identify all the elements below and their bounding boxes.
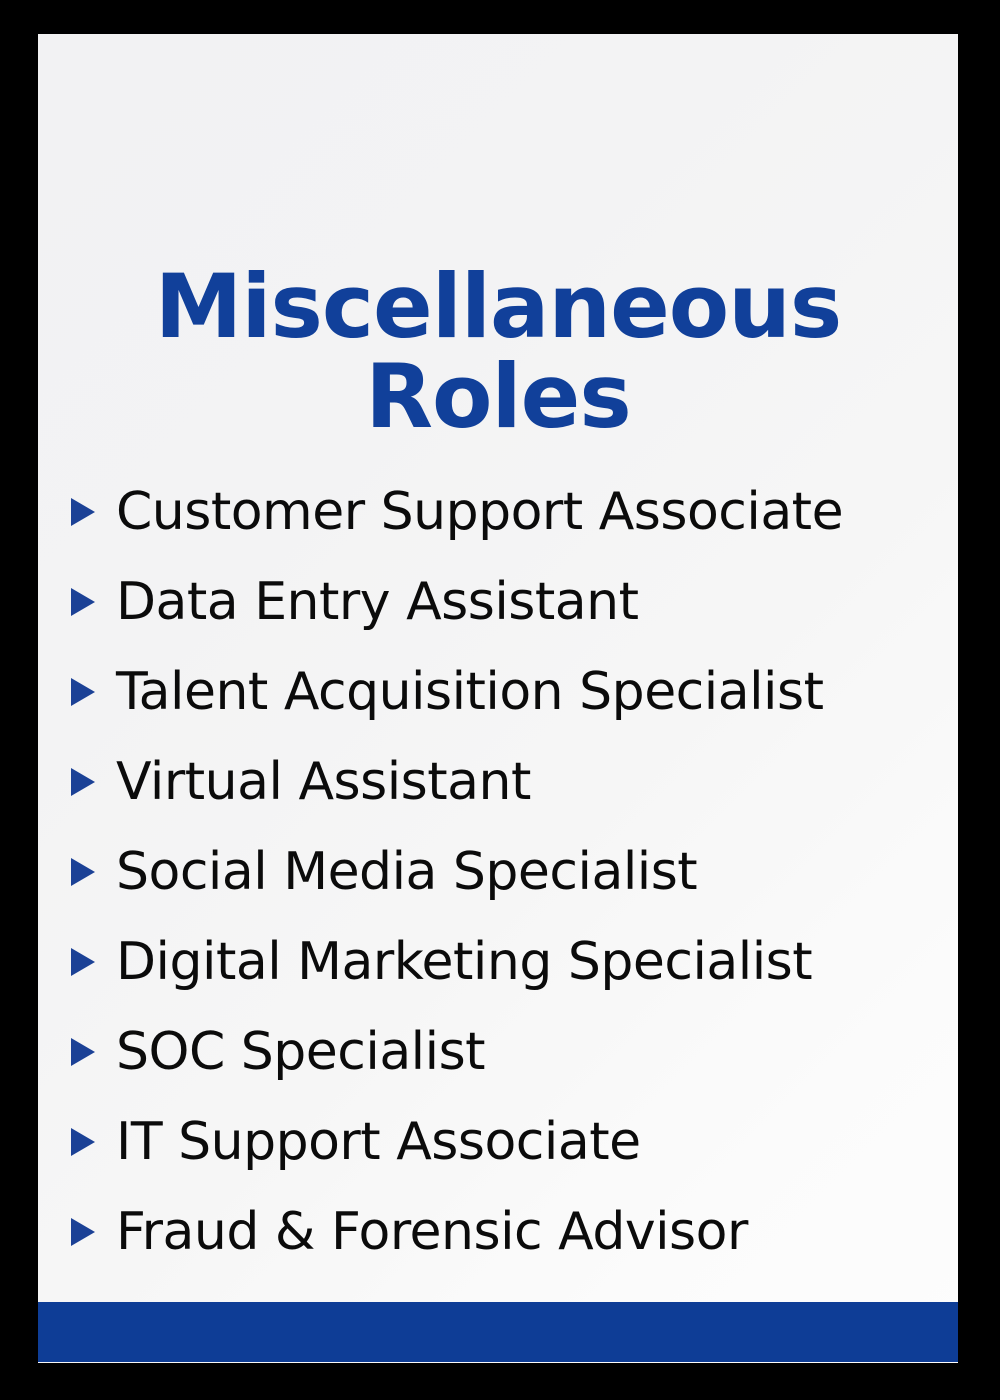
list-item-label: Customer Support Associate xyxy=(116,486,843,538)
triangle-right-icon xyxy=(70,945,100,979)
footer-accent-bar xyxy=(38,1302,958,1362)
roles-list: Customer Support Associate Data Entry As… xyxy=(38,467,958,1277)
list-item-label: IT Support Associate xyxy=(116,1116,641,1168)
list-item[interactable]: Customer Support Associate xyxy=(38,467,958,557)
list-item-label: Social Media Specialist xyxy=(116,846,697,898)
triangle-right-icon xyxy=(70,585,100,619)
triangle-right-icon xyxy=(70,855,100,889)
list-item-label: Digital Marketing Specialist xyxy=(116,936,812,988)
list-item-label: Data Entry Assistant xyxy=(116,576,638,628)
list-item[interactable]: Data Entry Assistant xyxy=(38,557,958,647)
list-item[interactable]: SOC Specialist xyxy=(38,1007,958,1097)
triangle-right-icon xyxy=(70,495,100,529)
triangle-right-icon xyxy=(70,765,100,799)
list-item[interactable]: Fraud & Forensic Advisor xyxy=(38,1187,958,1277)
list-item-label: Virtual Assistant xyxy=(116,756,531,808)
list-item[interactable]: Virtual Assistant xyxy=(38,737,958,827)
list-item[interactable]: IT Support Associate xyxy=(38,1097,958,1187)
list-item-label: SOC Specialist xyxy=(116,1026,485,1078)
triangle-right-icon xyxy=(70,1215,100,1249)
list-item[interactable]: Digital Marketing Specialist xyxy=(38,917,958,1007)
list-item[interactable]: Social Media Specialist xyxy=(38,827,958,917)
page-title: Miscellaneous Roles xyxy=(98,262,898,442)
triangle-right-icon xyxy=(70,1035,100,1069)
slide-card: Miscellaneous Roles Customer Support Ass… xyxy=(38,34,958,1363)
list-item-label: Fraud & Forensic Advisor xyxy=(116,1206,748,1258)
slide-root: Miscellaneous Roles Customer Support Ass… xyxy=(0,0,1000,1400)
list-item[interactable]: Talent Acquisition Specialist xyxy=(38,647,958,737)
triangle-right-icon xyxy=(70,1125,100,1159)
list-item-label: Talent Acquisition Specialist xyxy=(116,666,823,718)
title-block: Miscellaneous Roles xyxy=(38,262,958,442)
triangle-right-icon xyxy=(70,675,100,709)
